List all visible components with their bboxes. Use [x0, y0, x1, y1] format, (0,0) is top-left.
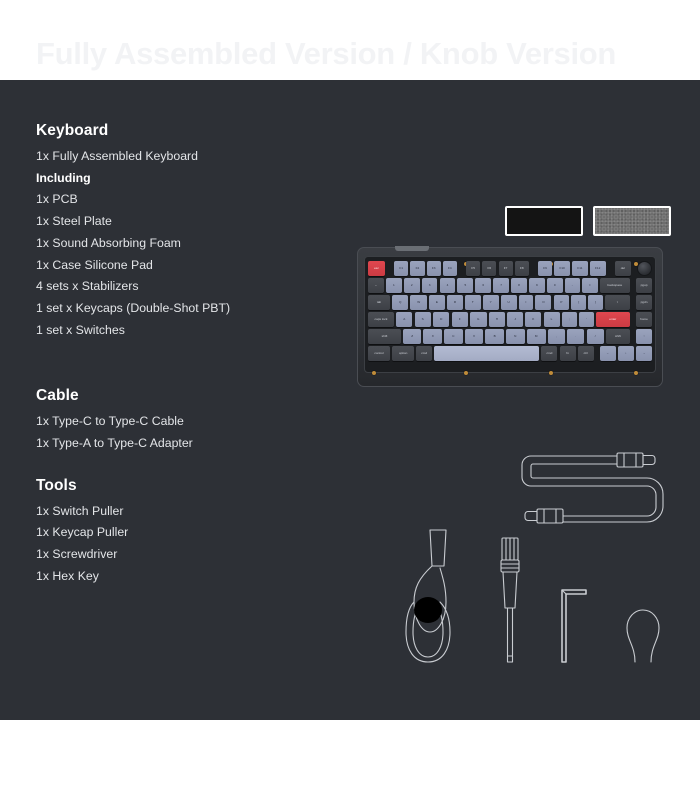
key-command-left[interactable]: cmd	[416, 346, 432, 361]
key-fn[interactable]: fn	[560, 346, 576, 361]
color-swatch-group	[505, 206, 671, 236]
tools-icon-group	[386, 528, 671, 673]
key-h[interactable]: H	[489, 312, 506, 327]
key-pageup[interactable]: pgup	[636, 278, 652, 293]
connector-body	[537, 509, 563, 523]
key-spacebar[interactable]	[434, 346, 539, 361]
key-arrow-down[interactable]: ↓	[618, 346, 634, 361]
key-command-right[interactable]: cmd	[541, 346, 557, 361]
key-row-numbers: ~ 1 2 3 4 5 6 7 8 9 0 - = backspace pgup	[368, 278, 652, 293]
case-screw	[634, 371, 638, 375]
key-comma[interactable]: ,	[548, 329, 565, 344]
list-item: 1x Type-C to Type-C Cable	[36, 411, 336, 433]
key-bracket-right[interactable]: ]	[588, 295, 603, 310]
key-row-modifiers: control option cmd cmd fn ctrl ← ↓ →	[368, 346, 652, 361]
list-item: 1x Sound Absorbing Foam	[36, 233, 336, 255]
key-m[interactable]: M	[527, 329, 546, 344]
list-item: 1 set x Keycaps (Double-Shot PBT)	[36, 298, 336, 320]
key-6[interactable]: 6	[475, 278, 491, 293]
key-arrow-up[interactable]: ↑	[636, 329, 652, 344]
key-home[interactable]: home	[636, 312, 652, 327]
key-s[interactable]: S	[415, 312, 431, 327]
key-q[interactable]: Q	[392, 295, 408, 310]
list-item: 1 set x Switches	[36, 320, 336, 342]
key-row-function: esc F1 F2 F3 F4 F5 F6 F7 F8 F9 F10 F11 F…	[368, 261, 652, 276]
keyboard-image: esc F1 F2 F3 F4 F5 F6 F7 F8 F9 F10 F11 F…	[357, 247, 663, 387]
keycap-grid: esc F1 F2 F3 F4 F5 F6 F7 F8 F9 F10 F11 F…	[368, 261, 652, 368]
key-esc[interactable]: esc	[368, 261, 385, 276]
key-capslock[interactable]: caps lock	[368, 312, 394, 327]
key-f9[interactable]: F9	[538, 261, 552, 276]
key-1[interactable]: 1	[386, 278, 402, 293]
key-z[interactable]: Z	[403, 329, 421, 344]
section-keyboard: Keyboard 1x Fully Assembled Keyboard Inc…	[36, 122, 336, 341]
key-u[interactable]: U	[501, 295, 517, 310]
key-f10[interactable]: F10	[554, 261, 570, 276]
key-f4[interactable]: F4	[443, 261, 457, 276]
connector-tip	[525, 512, 537, 521]
key-p[interactable]: P	[554, 295, 570, 310]
key-b[interactable]: B	[485, 329, 503, 344]
key-row-home: caps lock A S D F G H J K L ; ' enter ho…	[368, 312, 652, 327]
product-contents-page: Fully Assembled Version / Knob Version K…	[0, 0, 700, 800]
key-f7[interactable]: F7	[499, 261, 513, 276]
key-period[interactable]: .	[567, 329, 584, 344]
hex-key-icon	[562, 590, 586, 662]
key-7[interactable]: 7	[493, 278, 509, 293]
screwdriver-icon	[501, 538, 519, 662]
key-a[interactable]: A	[396, 312, 412, 327]
key-0[interactable]: 0	[547, 278, 563, 293]
key-slash[interactable]: /	[587, 329, 604, 344]
key-delete[interactable]: del	[615, 261, 631, 276]
key-v[interactable]: V	[465, 329, 483, 344]
key-minus[interactable]: -	[565, 278, 580, 293]
page-title: Fully Assembled Version / Knob Version	[36, 36, 616, 72]
list-item: Including	[36, 168, 336, 190]
key-equal[interactable]: =	[582, 278, 598, 293]
list-item: 1x PCB	[36, 189, 336, 211]
case-screw	[372, 371, 376, 375]
spacer	[36, 455, 336, 477]
key-f6[interactable]: F6	[482, 261, 496, 276]
key-row-qwerty: tab Q W E R T Y U I O P [ ] \ pgdn	[368, 295, 652, 310]
key-pagedown[interactable]: pgdn	[636, 295, 652, 310]
key-f[interactable]: F	[452, 312, 468, 327]
contents-list: Keyboard 1x Fully Assembled Keyboard Inc…	[36, 122, 336, 588]
list-item: 1x Type-A to Type-C Adapter	[36, 433, 336, 455]
section-tools: Tools 1x Switch Puller 1x Keycap Puller …	[36, 477, 336, 588]
key-option[interactable]: option	[392, 346, 414, 361]
spacer	[36, 341, 336, 387]
key-l[interactable]: L	[544, 312, 560, 327]
color-swatch-gray[interactable]	[593, 206, 671, 236]
key-control[interactable]: control	[368, 346, 390, 361]
key-row-shift: shift Z X C V B N M , . / shift ↑	[368, 329, 652, 344]
cable-path-inner	[531, 464, 663, 522]
section-cable: Cable 1x Type-C to Type-C Cable 1x Type-…	[36, 387, 336, 454]
list-item: 4 sets x Stabilizers	[36, 276, 336, 298]
case-screw	[549, 371, 553, 375]
key-f8[interactable]: F8	[515, 261, 529, 276]
key-quote[interactable]: '	[579, 312, 594, 327]
list-item: 1x Steel Plate	[36, 211, 336, 233]
key-enter[interactable]: enter	[596, 312, 630, 327]
key-f12[interactable]: F12	[590, 261, 606, 276]
key-k[interactable]: K	[525, 312, 541, 327]
list-item: 1x Keycap Puller	[36, 522, 336, 544]
tools-illustration	[386, 528, 671, 678]
key-backspace[interactable]: backspace	[600, 278, 630, 293]
key-shift-left[interactable]: shift	[368, 329, 401, 344]
case-screw	[464, 371, 468, 375]
connector-body	[617, 453, 643, 467]
key-f1[interactable]: F1	[394, 261, 408, 276]
key-x[interactable]: X	[423, 329, 441, 344]
switch-puller-icon	[406, 530, 450, 662]
key-f2[interactable]: F2	[410, 261, 424, 276]
key-bracket-left[interactable]: [	[571, 295, 586, 310]
key-arrow-left[interactable]: ←	[600, 346, 616, 361]
key-c[interactable]: C	[444, 329, 463, 344]
keyboard-badge	[395, 246, 429, 251]
key-8[interactable]: 8	[511, 278, 527, 293]
list-item: 1x Switch Puller	[36, 501, 336, 523]
key-semicolon[interactable]: ;	[562, 312, 577, 327]
key-j[interactable]: J	[507, 312, 523, 327]
key-i[interactable]: I	[519, 295, 534, 310]
section-heading: Keyboard	[36, 122, 336, 140]
list-item: 1x Fully Assembled Keyboard	[36, 146, 336, 168]
key-o[interactable]: O	[535, 295, 551, 310]
list-item: 1x Screwdriver	[36, 544, 336, 566]
key-3[interactable]: 3	[422, 278, 438, 293]
key-2[interactable]: 2	[404, 278, 420, 293]
key-d[interactable]: D	[433, 312, 450, 327]
key-ctrl-right[interactable]: ctrl	[578, 346, 594, 361]
key-tab[interactable]: tab	[368, 295, 390, 310]
keycap-puller-icon	[627, 610, 659, 662]
key-f3[interactable]: F3	[427, 261, 441, 276]
section-heading: Cable	[36, 387, 336, 405]
key-backslash[interactable]: \	[605, 295, 630, 310]
list-item: 1x Hex Key	[36, 566, 336, 588]
rotary-knob[interactable]	[637, 261, 652, 276]
key-g[interactable]: G	[470, 312, 487, 327]
key-f5[interactable]: F5	[466, 261, 480, 276]
key-9[interactable]: 9	[529, 278, 545, 293]
key-e[interactable]: E	[429, 295, 445, 310]
key-r[interactable]: R	[447, 295, 463, 310]
key-t[interactable]: T	[465, 295, 481, 310]
key-arrow-right[interactable]: →	[636, 346, 652, 361]
key-backtick[interactable]: ~	[368, 278, 384, 293]
usb-c-cable-icon	[505, 443, 675, 538]
key-4[interactable]: 4	[440, 278, 456, 293]
key-w[interactable]: W	[410, 295, 427, 310]
section-heading: Tools	[36, 477, 336, 495]
connector-tip	[643, 456, 655, 465]
list-item: 1x Case Silicone Pad	[36, 255, 336, 277]
key-f11[interactable]: F11	[572, 261, 588, 276]
key-y[interactable]: Y	[483, 295, 499, 310]
color-swatch-black[interactable]	[505, 206, 583, 236]
key-5[interactable]: 5	[457, 278, 473, 293]
key-n[interactable]: N	[506, 329, 525, 344]
key-shift-right[interactable]: shift	[606, 329, 630, 344]
